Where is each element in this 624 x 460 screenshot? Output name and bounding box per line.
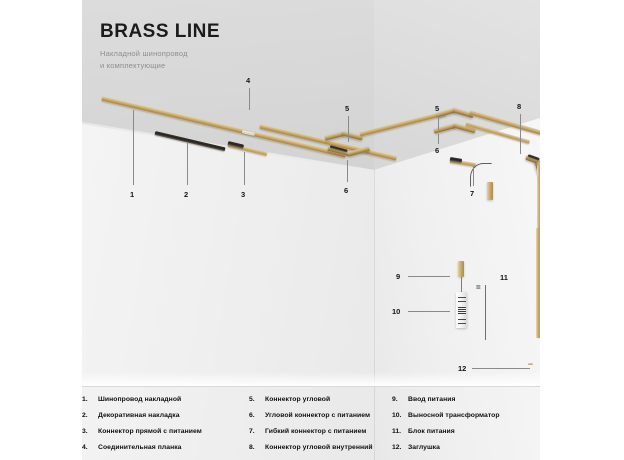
legend-item-8-text: Коннектор угловой внутренний — [265, 444, 373, 451]
legend-item-3: 3. Коннектор прямой с питанием — [82, 428, 249, 435]
legend-item-12-text: Заглушка — [408, 444, 440, 451]
callout-2: 2 — [184, 190, 188, 199]
legend-item-3-number: 3. — [82, 428, 98, 435]
legend-item-5-number: 5. — [249, 396, 265, 403]
leader-line-1 — [133, 110, 134, 185]
legend-item-10-number: 10. — [392, 412, 408, 419]
transformer-label-line-2 — [458, 301, 466, 302]
legend-item-12: 12. Заглушка — [392, 444, 540, 451]
legend-column-2: 5. Коннектор угловой 6. Угловой коннекто… — [249, 396, 392, 460]
page-subtitle: Накладной шинопровод и комплектующие — [100, 48, 360, 71]
leader-line-4 — [249, 88, 250, 110]
legend-item-4-text: Соединительная планка — [98, 444, 182, 451]
legend-item-6-text: Угловой коннектор с питанием — [265, 412, 370, 419]
callout-5a: 5 — [345, 104, 349, 113]
power-input-9 — [458, 261, 464, 277]
legend-item-11-number: 11. — [392, 428, 408, 435]
legend-item-8: 8. Коннектор угловой внутренний — [249, 444, 392, 451]
legend-column-3: 9. Ввод питания 10. Выносной трансформат… — [392, 396, 540, 460]
leader-line-12 — [472, 368, 530, 369]
legend-item-2: 2. Декоративная накладка — [82, 412, 249, 419]
legend-item-8-number: 8. — [249, 444, 265, 451]
callout-8: 8 — [517, 102, 521, 111]
power-block-rail-11 — [536, 228, 540, 338]
transformer-label-line-1 — [458, 297, 466, 298]
transformer-10-lead — [485, 285, 486, 340]
page-subtitle-line-1: Накладной шинопровод — [100, 48, 360, 60]
legend-item-6: 6. Угловой коннектор с питанием — [249, 412, 392, 419]
transformer-label-line-4 — [458, 323, 466, 324]
legend-item-2-number: 2. — [82, 412, 98, 419]
power-input-9-wire — [461, 277, 462, 293]
end-cap-12 — [528, 363, 533, 365]
callout-6a: 6 — [344, 186, 348, 195]
transformer-label-line-3 — [458, 319, 466, 320]
legend-item-12-number: 12. — [392, 444, 408, 451]
callout-10: 10 — [392, 307, 400, 316]
transformer-barcode — [458, 307, 466, 314]
product-diagram-page: = BRASS LINE Накладной шинопровод и комп… — [0, 0, 624, 460]
legend-item-5: 5. Коннектор угловой — [249, 396, 392, 403]
remote-transformer-10 — [456, 292, 467, 328]
legend-item-3-text: Коннектор прямой с питанием — [98, 428, 202, 435]
callout-3: 3 — [241, 190, 245, 199]
leader-line-3 — [244, 152, 245, 185]
callout-11: 11 — [500, 273, 508, 282]
leader-line-9 — [408, 276, 450, 277]
equals-sign: = — [476, 283, 480, 292]
leader-line-5b — [438, 116, 439, 130]
callout-6b: 6 — [435, 146, 439, 155]
leader-line-10 — [408, 311, 450, 312]
legend-item-4-number: 4. — [82, 444, 98, 451]
legend-block: 1. Шинопровод накладной 2. Декоративная … — [82, 396, 540, 460]
header-block: BRASS LINE Накладной шинопровод и компле… — [100, 22, 360, 71]
callout-4: 4 — [246, 76, 250, 85]
legend-item-1-text: Шинопровод накладной — [98, 396, 181, 403]
legend-item-10-text: Выносной трансформатор — [408, 412, 500, 419]
legend-item-6-number: 6. — [249, 412, 265, 419]
leader-line-6b — [438, 134, 439, 144]
flex-connector-7-plug — [487, 182, 493, 200]
callout-7: 7 — [470, 189, 474, 198]
legend-item-11-text: Блок питания — [408, 428, 455, 435]
legend-item-7-text: Гибкий коннектор с питанием — [265, 428, 366, 435]
legend-item-10: 10. Выносной трансформатор — [392, 412, 540, 419]
legend-item-1: 1. Шинопровод накладной — [82, 396, 249, 403]
leader-line-6a — [347, 160, 348, 182]
scene-bottom-fade — [82, 372, 540, 386]
leader-line-7 — [473, 166, 474, 186]
legend-item-9-text: Ввод питания — [408, 396, 456, 403]
page-title: BRASS LINE — [100, 22, 360, 41]
callout-5b: 5 — [435, 104, 439, 113]
page-subtitle-line-2: и комплектующие — [100, 60, 360, 72]
legend-item-7: 7. Гибкий коннектор с питанием — [249, 428, 392, 435]
legend-item-2-text: Декоративная накладка — [98, 412, 180, 419]
legend-item-9: 9. Ввод питания — [392, 396, 540, 403]
callout-1: 1 — [130, 190, 134, 199]
power-block-rail-11-inner — [537, 165, 540, 235]
callout-12: 12 — [458, 364, 466, 373]
legend-item-11: 11. Блок питания — [392, 428, 540, 435]
legend-item-7-number: 7. — [249, 428, 265, 435]
legend-column-1: 1. Шинопровод накладной 2. Декоративная … — [82, 396, 249, 460]
legend-item-4: 4. Соединительная планка — [82, 444, 249, 451]
legend-item-5-text: Коннектор угловой — [265, 396, 330, 403]
leader-line-5a — [348, 116, 349, 142]
callout-9: 9 — [396, 272, 400, 281]
legend-item-9-number: 9. — [392, 396, 408, 403]
leader-line-8 — [520, 114, 521, 154]
leader-line-2 — [187, 142, 188, 185]
legend-divider — [82, 386, 540, 387]
legend-item-1-number: 1. — [82, 396, 98, 403]
